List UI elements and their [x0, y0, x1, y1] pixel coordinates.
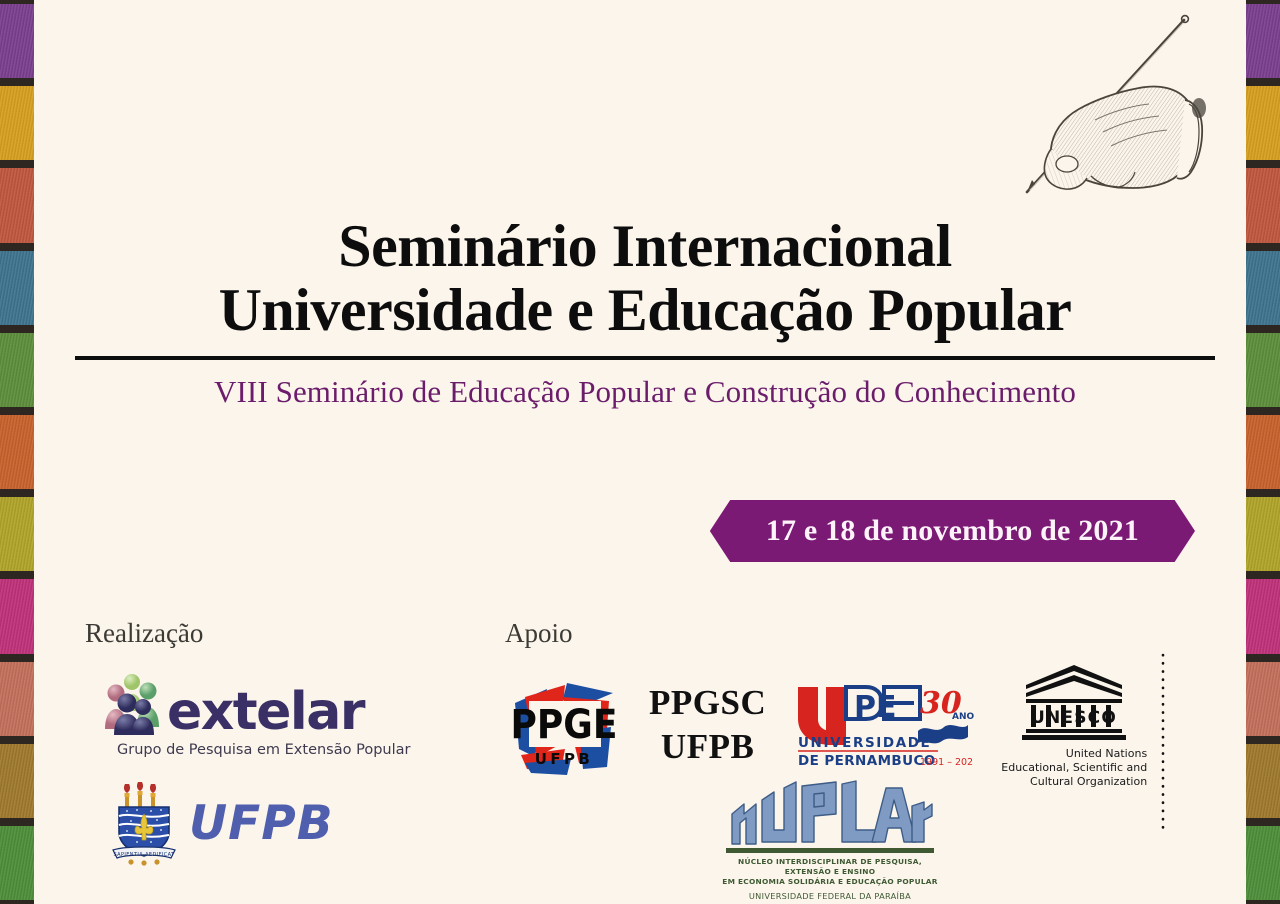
svg-text:PE: PE: [854, 690, 896, 725]
book-spine-band: [1246, 575, 1280, 657]
hand-with-pen-icon: [999, 8, 1219, 203]
spine-gap-right: [1237, 0, 1246, 904]
upe-logo: PE 30 ANOS UNIVERSIDADE DE PERNAMBUCO 19…: [792, 679, 974, 771]
unesco-temple-icon: UNESCO: [1022, 661, 1126, 741]
ufpb-crest-icon: SAPIENTIA AEDIFICAT: [107, 780, 181, 866]
book-spine-band: [0, 575, 34, 657]
ppge-ufpb-logo: PPGE UFPB: [505, 671, 623, 779]
book-spine-band: [1246, 164, 1280, 246]
extelar-tagline: Grupo de Pesquisa em Extensão Popular: [117, 742, 465, 758]
book-spine-border-left: [0, 0, 34, 904]
ppgsc-ufpb-logo: PPGSC UFPB: [649, 681, 766, 769]
unesco-dotted-line: [1160, 653, 1166, 831]
nuplar-subtitle-secondary: UNIVERSIDADE FEDERAL DA PARAÍBA: [715, 891, 945, 901]
unesco-description: United Nations Educational, Scientific a…: [1001, 747, 1147, 789]
book-spine-band: [0, 493, 34, 575]
poster-title: Seminário Internacional Universidade e E…: [73, 214, 1217, 342]
svg-text:SAPIENTIA AEDIFICAT: SAPIENTIA AEDIFICAT: [113, 852, 175, 858]
unesco-logo: UNESCO United Nations Educational, Scien…: [1000, 661, 1148, 789]
nuplar-divider-bar: [726, 848, 934, 853]
book-spine-band: [0, 740, 34, 822]
apoio-label: Apoio: [505, 618, 1237, 649]
date-banner-container: 17 e 18 de novembro de 2021: [43, 500, 1237, 562]
book-spine-band: [1246, 329, 1280, 411]
event-poster: Seminário Internacional Universidade e E…: [0, 0, 1280, 904]
extelar-wordmark: extelar: [167, 688, 364, 737]
book-spine-band: [0, 164, 34, 246]
title-block: Seminário Internacional Universidade e E…: [73, 214, 1217, 410]
book-spine-band: [0, 82, 34, 164]
book-spine-band: [0, 329, 34, 411]
svg-text:UNESCO: UNESCO: [1031, 708, 1117, 728]
svg-text:PPGE: PPGE: [511, 702, 618, 748]
book-spine-band: [1246, 740, 1280, 822]
book-spine-band: [0, 658, 34, 740]
ufpb-logo: SAPIENTIA AEDIFICAT UFPB: [107, 780, 465, 866]
spine-gap-left: [34, 0, 43, 904]
book-spine-band: [0, 411, 34, 493]
nuplar-subtitle-primary: NÚCLEO INTERDISCIPLINAR DE PESQUISA, EXT…: [715, 857, 945, 887]
svg-text:ANOS: ANOS: [952, 712, 974, 722]
realizacao-label: Realização: [85, 618, 465, 649]
svg-text:1991 – 2021: 1991 – 2021: [920, 757, 974, 768]
book-spine-band: [1246, 247, 1280, 329]
extelar-logo: extelar Grupo de Pesquisa em Extensão Po…: [103, 665, 465, 758]
ufpb-wordmark: UFPB: [189, 796, 334, 851]
nuplar-wordmark-icon: [726, 780, 934, 846]
book-spine-band: [1246, 411, 1280, 493]
book-spine-band: [0, 0, 34, 82]
poster-subtitle: VIII Seminário de Educação Popular e Con…: [73, 374, 1217, 410]
book-spine-band: [1246, 658, 1280, 740]
apoio-logo-row: PPGE UFPB PPGSC UFPB: [505, 665, 1237, 785]
book-spine-band: [1246, 493, 1280, 575]
apoio-column: Apoio PPGE: [505, 618, 1237, 785]
book-spine-band: [1246, 82, 1280, 164]
book-spine-band: [0, 822, 34, 904]
realizacao-column: Realização: [85, 618, 465, 866]
book-spine-band: [1246, 0, 1280, 82]
extelar-people-icon: [103, 667, 173, 737]
book-spine-border-right: [1246, 0, 1280, 904]
sponsors-section: Realização: [43, 618, 1237, 904]
book-spine-band: [1246, 822, 1280, 904]
nuplar-logo: NÚCLEO INTERDISCIPLINAR DE PESQUISA, EXT…: [715, 780, 945, 901]
title-divider: [75, 356, 1215, 360]
book-spine-band: [0, 247, 34, 329]
svg-text:UNIVERSIDADE: UNIVERSIDADE: [798, 735, 931, 751]
date-banner: 17 e 18 de novembro de 2021: [710, 500, 1195, 562]
poster-content: Seminário Internacional Universidade e E…: [43, 0, 1237, 904]
svg-text:DE PERNAMBUCO: DE PERNAMBUCO: [798, 753, 936, 769]
ppgsc-wordmark: PPGSC UFPB: [649, 681, 766, 769]
svg-text:UFPB: UFPB: [535, 750, 593, 768]
